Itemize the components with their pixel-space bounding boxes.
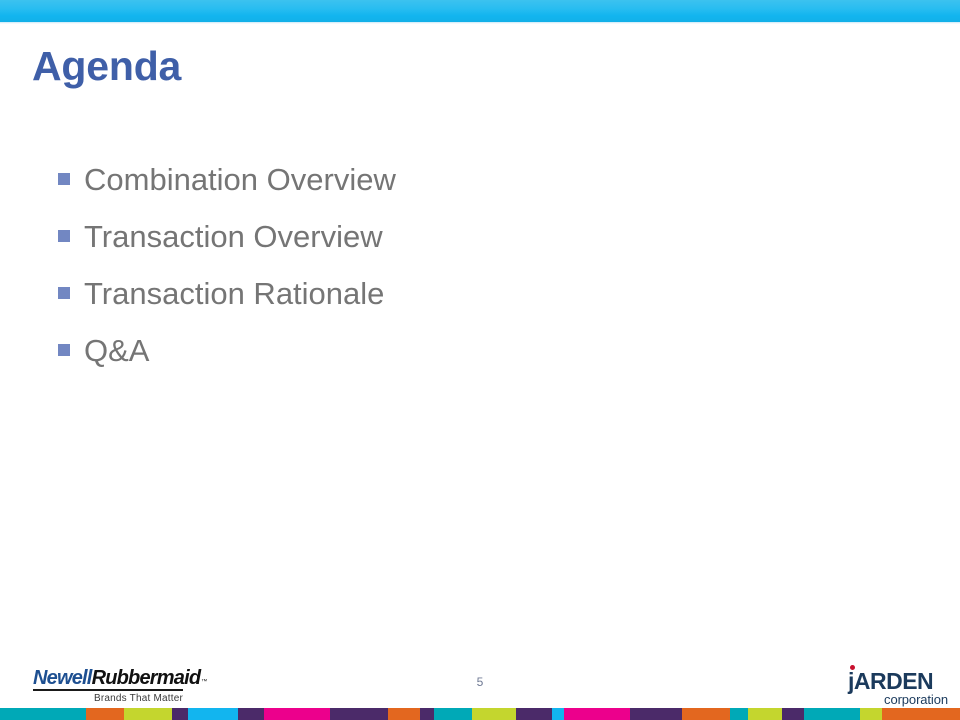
- color-strip-block: [188, 708, 238, 720]
- list-item: Transaction Overview: [58, 217, 758, 274]
- color-strip-block: [264, 708, 330, 720]
- top-accent-band: [0, 0, 960, 22]
- color-strip-block: [172, 708, 188, 720]
- color-strip-block: [782, 708, 804, 720]
- color-strip-block: [630, 708, 682, 720]
- newell-rubbermaid-tagline: Brands That Matter: [33, 693, 183, 704]
- newell-rubbermaid-wordmark: Newell Rubbermaid ™: [33, 668, 183, 691]
- color-strip-block: [124, 708, 172, 720]
- color-strip-block: [516, 708, 552, 720]
- color-strip-block: [804, 708, 860, 720]
- list-item: Combination Overview: [58, 160, 758, 217]
- color-strip-block: [564, 708, 630, 720]
- square-bullet-icon: [58, 287, 70, 299]
- color-strip-block: [330, 708, 388, 720]
- agenda-item-label: Q&A: [84, 331, 149, 371]
- newell-word: Newell: [33, 668, 92, 688]
- agenda-item-label: Transaction Rationale: [84, 274, 384, 314]
- color-strip-block: [552, 708, 564, 720]
- bottom-color-strip: [0, 708, 960, 720]
- color-strip-block: [730, 708, 748, 720]
- square-bullet-icon: [58, 230, 70, 242]
- color-strip-block: [238, 708, 264, 720]
- color-strip-block: [434, 708, 472, 720]
- newell-rubbermaid-logo: Newell Rubbermaid ™ Brands That Matter: [33, 668, 183, 704]
- color-strip-block: [420, 708, 434, 720]
- jarden-subtitle: corporation: [848, 692, 948, 707]
- jarden-red-dot-icon: [850, 665, 855, 670]
- page-title: Agenda: [32, 44, 181, 89]
- list-item: Transaction Rationale: [58, 274, 758, 331]
- color-strip-block: [0, 708, 86, 720]
- color-strip-block: [748, 708, 782, 720]
- color-strip-block: [86, 708, 124, 720]
- agenda-item-label: Combination Overview: [84, 160, 396, 200]
- square-bullet-icon: [58, 173, 70, 185]
- jarden-wordmark: jARDEN: [848, 670, 948, 693]
- agenda-item-label: Transaction Overview: [84, 217, 383, 257]
- color-strip-block: [682, 708, 730, 720]
- square-bullet-icon: [58, 344, 70, 356]
- rubbermaid-word: Rubbermaid: [92, 668, 201, 688]
- slide-agenda: Agenda Combination Overview Transaction …: [0, 0, 960, 720]
- color-strip-block: [472, 708, 516, 720]
- top-accent-band-edge: [0, 22, 960, 24]
- jarden-wordmark-text: jARDEN: [848, 668, 933, 694]
- jarden-corporation-logo: jARDEN corporation: [848, 670, 948, 707]
- color-strip-block: [882, 708, 960, 720]
- agenda-list: Combination Overview Transaction Overvie…: [58, 160, 758, 388]
- list-item: Q&A: [58, 331, 758, 388]
- color-strip-block: [860, 708, 882, 720]
- color-strip-block: [388, 708, 420, 720]
- trademark-icon: ™: [201, 679, 207, 688]
